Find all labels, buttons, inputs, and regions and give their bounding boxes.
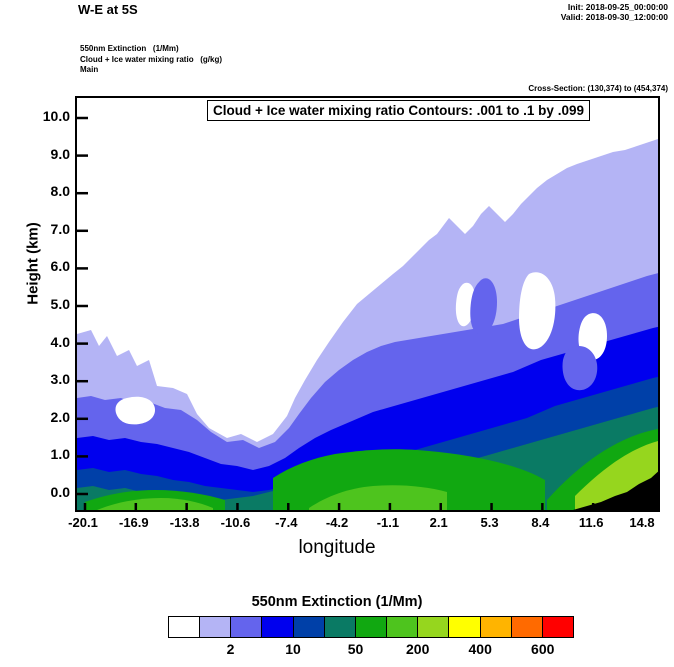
y-tick-label: 3.0: [24, 371, 70, 387]
colorbar-swatch: [231, 617, 262, 637]
y-tick-label: 10.0: [24, 108, 70, 124]
colorbar-swatch: [543, 617, 573, 637]
colorbar-swatch: [200, 617, 231, 637]
colorbar-swatch: [481, 617, 512, 637]
y-axis-ticks: 10.09.08.07.06.05.04.03.02.01.00.0: [14, 96, 70, 512]
extinction-pocket: [563, 346, 598, 390]
x-tick-label: 8.4: [531, 515, 549, 530]
colorbar-swatch: [262, 617, 293, 637]
colorbar-swatch: [294, 617, 325, 637]
clear-air-hole: [222, 347, 304, 402]
variable-subtitle: 550nm Extinction (1/Mm) Cloud + Ice wate…: [80, 44, 222, 76]
init-time: Init: 2018-09-25_00:00:00: [561, 2, 668, 12]
x-tick-label: -16.9: [119, 515, 149, 530]
x-tick-label: -7.4: [275, 515, 297, 530]
cross-section-plot[interactable]: .001.001.001.001: [75, 96, 660, 512]
contour-field: .001.001.001.001: [77, 98, 660, 512]
run-times: Init: 2018-09-25_00:00:00 Valid: 2018-09…: [561, 2, 668, 22]
x-tick-label: -4.2: [326, 515, 348, 530]
y-tick-label: 6.0: [24, 258, 70, 274]
colorbar-swatch: [512, 617, 543, 637]
y-tick-label: 9.0: [24, 146, 70, 162]
y-tick-label: 0.0: [24, 484, 70, 500]
y-tick-label: 1.0: [24, 446, 70, 462]
colorbar-tick-label: 10: [285, 641, 301, 657]
y-tick-label: 2.0: [24, 409, 70, 425]
colorbar-swatch: [169, 617, 200, 637]
colorbar-tick-label: 50: [348, 641, 364, 657]
contour-info-box: Cloud + Ice water mixing ratio Contours:…: [207, 100, 590, 121]
colorbar: [168, 616, 574, 638]
x-axis-title: longitude: [0, 537, 674, 559]
colorbar-ticks: 21050200400600: [168, 641, 574, 663]
y-tick-label: 4.0: [24, 334, 70, 350]
x-tick-label: 14.8: [629, 515, 654, 530]
colorbar-swatch: [418, 617, 449, 637]
cross-section-label: Cross-Section: (130,374) to (454,374): [528, 84, 668, 93]
colorbar-tick-label: 400: [469, 641, 492, 657]
colorbar-swatch: [356, 617, 387, 637]
x-axis-ticks: -20.1-16.9-13.8-10.6-7.4-4.2-1.12.15.38.…: [75, 515, 660, 535]
colorbar-title: 550nm Extinction (1/Mm): [0, 594, 674, 610]
x-tick-label: -1.1: [377, 515, 399, 530]
contour-info-text: Cloud + Ice water mixing ratio Contours:…: [213, 103, 584, 118]
x-tick-label: -13.8: [170, 515, 200, 530]
colorbar-swatch: [449, 617, 480, 637]
y-tick-label: 5.0: [24, 296, 70, 312]
colorbar-swatch: [387, 617, 418, 637]
x-tick-label: 11.6: [579, 515, 604, 530]
page-title: W-E at 5S: [78, 2, 138, 17]
x-tick-label: 2.1: [430, 515, 448, 530]
x-tick-label: -20.1: [68, 515, 98, 530]
valid-time: Valid: 2018-09-30_12:00:00: [561, 12, 668, 22]
clear-air-hole: [116, 397, 156, 425]
colorbar-tick-label: 2: [227, 641, 235, 657]
colorbar-tick-label: 200: [406, 641, 429, 657]
colorbar-tick-label: 600: [531, 641, 554, 657]
x-tick-label: 5.3: [480, 515, 498, 530]
colorbar-swatch: [325, 617, 356, 637]
x-tick-label: -10.6: [221, 515, 251, 530]
y-tick-label: 8.0: [24, 183, 70, 199]
y-tick-label: 7.0: [24, 221, 70, 237]
